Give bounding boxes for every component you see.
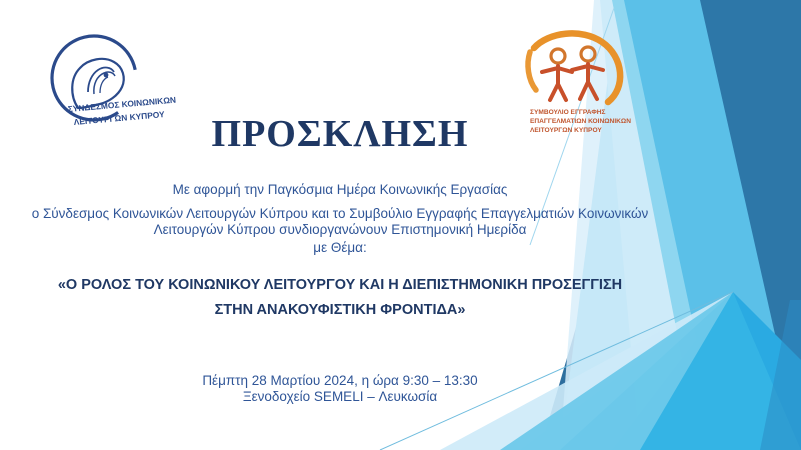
facet-shape-dark-steel-right: [712, 0, 801, 450]
slide-content: ΠΡΟΣΚΛΗΣΗ Με αφορμή την Παγκόσμια Ημέρα …: [0, 0, 680, 450]
invitation-slide: ΣΥΝΔΕΣΜΟΣ ΚΟΙΝΩΝΙΚΩΝ ΛΕΙΤΟΥΡΓΩΝ ΚΥΠΡΟΥ Σ…: [0, 0, 801, 450]
intro-line-3: Λειτουργών Κύπρου συνδιοργανώνουν Επιστη…: [0, 222, 680, 238]
theme-line-2: ΣΤΗΝ ΑΝΑΚΟΥΦΙΣΤΙΚΗ ΦΡΟΝΤΙΔΑ»: [0, 302, 680, 318]
page-title: ΠΡΟΣΚΛΗΣΗ: [0, 112, 680, 156]
intro-line-4: με Θέμα:: [0, 240, 680, 256]
theme-line-1: «Ο ΡΟΛΟΣ ΤΟΥ ΚΟΙΝΩΝΙΚΟΥ ΛΕΙΤΟΥΡΓΟΥ ΚΑΙ Η…: [0, 277, 680, 293]
intro-line-2: ο Σύνδεσμος Κοινωνικών Λειτουργών Κύπρου…: [0, 206, 680, 222]
event-date: Πέμπτη 28 Μαρτίου 2024, η ώρα 9:30 – 13:…: [0, 373, 680, 388]
event-venue: Ξενοδοχείο SEMELI – Λευκωσία: [0, 389, 680, 404]
facet-shape-dark-accent-bottom: [760, 300, 801, 450]
intro-line-1: Με αφορμή την Παγκόσμια Ημέρα Κοινωνικής…: [0, 182, 680, 198]
